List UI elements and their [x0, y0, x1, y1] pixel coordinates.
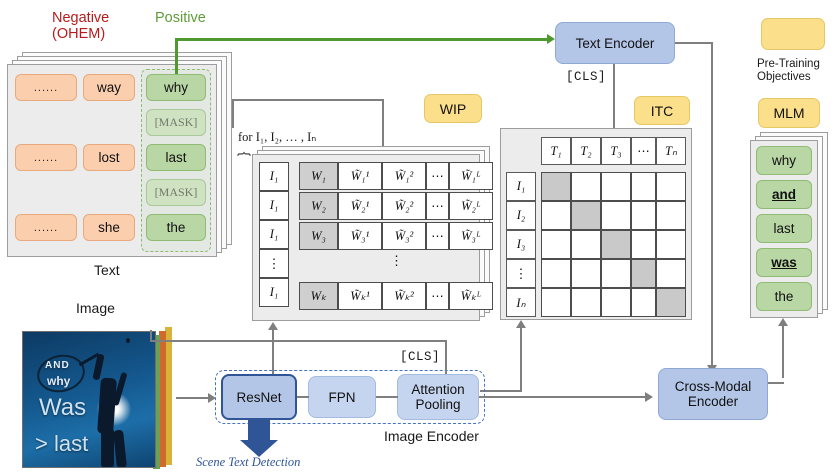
fpn-label: FPN: [329, 390, 356, 405]
itc-cell-r1c3: [601, 172, 631, 201]
wip-left-cell-3: I₁: [259, 220, 289, 249]
positive-label: Positive: [155, 10, 206, 26]
itc-cell-r1c5: [656, 172, 686, 201]
positive-word-chip-3[interactable]: last: [146, 144, 206, 171]
wip-left-cell-5: I₁: [259, 278, 289, 307]
wip-cell-r2c3: W̃₂²: [382, 192, 426, 220]
itc-col-header-4: ⋯: [631, 137, 656, 165]
itc-cell-r5c2: [571, 288, 601, 317]
photo-stack-edge-1: [165, 327, 172, 465]
wip-cell-rKc3: W̃ₖ²: [382, 282, 426, 310]
text-encoder-right-line: [675, 42, 713, 44]
wip-cell-r2c1: W₂: [299, 192, 338, 220]
pretraining-objectives-caption: Pre-Training Objectives: [757, 58, 835, 84]
mlm-token-text-2: and: [772, 187, 796, 202]
positive-word-text-1: why: [164, 80, 188, 95]
wip-cell-r1c2: W̃₁¹: [338, 162, 382, 190]
fpn-box[interactable]: FPN: [308, 376, 376, 418]
itc-cell-r3c2: [571, 230, 601, 259]
mlm-token-text-5: the: [775, 289, 794, 304]
fpn-to-attention-line: [376, 396, 398, 398]
mlm-token-chip-4[interactable]: was: [756, 248, 812, 277]
image-to-wip-arrow: [268, 322, 278, 330]
wip-cell-r1c3: W̃₁²: [382, 162, 426, 190]
wip-left-cell-4: ⋮: [259, 249, 289, 278]
green-connector-vertical: [175, 38, 178, 74]
itc-row-header-5: Iₙ: [506, 288, 536, 317]
attention-cls-vert: [445, 340, 447, 374]
itc-row-header-2: I₂: [506, 201, 536, 230]
negative-dots-chip-3[interactable]: ......: [15, 144, 77, 171]
photo-stack-edge-2: [159, 331, 166, 467]
wip-cell-rKc1: Wₖ: [299, 282, 338, 310]
image-overlay-and: AND: [45, 360, 70, 371]
text-encoder-box[interactable]: Text Encoder: [555, 22, 675, 64]
wip-cell-rKc2: W̃ₖ¹: [338, 282, 382, 310]
text-encoder-to-itc-line: [613, 64, 615, 132]
wip-cell-rKc4: ⋯: [426, 282, 449, 310]
mlm-token-chip-3[interactable]: last: [756, 214, 812, 243]
attention-to-cross-modal-arrow: [645, 392, 653, 402]
cross-modal-line2: Encoder: [675, 394, 752, 409]
negative-dots-text-5: ......: [34, 222, 58, 234]
wip-cell-r3c5: W̃₃ᴸ: [449, 222, 493, 250]
itc-cell-r2c5: [656, 201, 686, 230]
itc-cell-r4c4: [631, 259, 656, 288]
itc-cell-r3c4: [631, 230, 656, 259]
itc-cell-r5c3: [601, 288, 631, 317]
negative-word-chip-3[interactable]: lost: [83, 144, 135, 171]
pretraining-line2: Objectives: [757, 71, 835, 84]
positive-mask-chip-2[interactable]: [MASK]: [146, 109, 206, 136]
wip-row-ellipsis: ⋮: [390, 253, 403, 269]
negative-word-text-3: lost: [98, 150, 119, 165]
attention-pooling-line2: Pooling: [411, 397, 464, 412]
wip-cell-r3c3: W̃₃²: [382, 222, 426, 250]
image-overlay-why: why: [47, 374, 70, 388]
image-ball: [126, 338, 130, 343]
wip-cell-r1c5: W̃₁ᴸ: [449, 162, 493, 190]
itc-cell-r2c2: [571, 201, 601, 230]
mlm-badge-label: MLM: [773, 105, 804, 121]
itc-cell-r5c4: [631, 288, 656, 317]
negative-word-chip-5[interactable]: she: [83, 214, 135, 241]
itc-cell-r2c1: [541, 201, 571, 230]
itc-row-header-3: I₃: [506, 230, 536, 259]
itc-cell-r1c4: [631, 172, 656, 201]
mlm-token-text-3: last: [773, 221, 794, 236]
negative-dots-chip-1[interactable]: ......: [15, 74, 77, 101]
attention-to-cross-modal-line: [479, 396, 647, 398]
itc-row-header-4: ⋮: [506, 259, 536, 288]
text-encoder-down-line: [711, 42, 713, 367]
text-encoder-label: Text Encoder: [576, 36, 655, 51]
mlm-token-text-4: was: [771, 255, 797, 270]
positive-mask-chip-4[interactable]: [MASK]: [146, 179, 206, 206]
wip-cell-r2c2: W̃₂¹: [338, 192, 382, 220]
sample-image: AND why Was > last: [22, 331, 156, 468]
scene-text-arrow-shaft: [248, 420, 270, 440]
wip-cell-r3c2: W̃₃¹: [338, 222, 382, 250]
wip-badge: WIP: [424, 94, 482, 123]
itc-cell-r1c2: [571, 172, 601, 201]
positive-word-text-5: the: [167, 220, 186, 235]
wip-badge-label: WIP: [440, 101, 466, 117]
itc-cell-r3c3: [601, 230, 631, 259]
wip-cell-r1c4: ⋯: [426, 162, 449, 190]
image-overlay-was: Was: [39, 394, 86, 422]
image-to-itc-line: [520, 328, 522, 392]
wip-cell-r2c5: W̃₂ᴸ: [449, 192, 493, 220]
attention-pooling-box[interactable]: Attention Pooling: [397, 374, 479, 420]
cls-branch-left-vert: [150, 330, 152, 342]
text-caption: Text: [94, 262, 120, 278]
green-connector-arrowhead: [547, 34, 555, 44]
negative-word-text-1: way: [97, 80, 121, 95]
negative-word-text-5: she: [98, 220, 120, 235]
text-to-wip-vert-right: [382, 99, 384, 149]
cross-modal-to-mlm-arrow: [778, 318, 788, 326]
negative-dots-chip-5[interactable]: ......: [15, 214, 77, 241]
resnet-box[interactable]: ResNet: [221, 374, 297, 420]
itc-badge: ITC: [634, 96, 690, 125]
itc-row-header-1: I₁: [506, 172, 536, 201]
cls-label-bottom: [CLS]: [400, 350, 440, 364]
scene-text-detection-label: Scene Text Detection: [196, 455, 300, 470]
cross-modal-line1: Cross-Modal: [675, 379, 752, 394]
wip-left-cell-1: I₁: [259, 162, 289, 191]
image-to-encoder-line: [176, 397, 210, 399]
positive-word-chip-1[interactable]: why: [146, 74, 206, 101]
image-to-itc-arrow: [516, 320, 526, 328]
cross-modal-encoder-box[interactable]: Cross-Modal Encoder: [658, 368, 768, 420]
wip-cell-r3c4: ⋯: [426, 222, 449, 250]
attention-pooling-line1: Attention: [411, 382, 464, 397]
wip-left-cell-2: I₁: [259, 191, 289, 220]
itc-cell-r5c5: [656, 288, 686, 317]
itc-col-header-5: Tₙ: [656, 137, 686, 165]
positive-word-text-2: [MASK]: [155, 115, 198, 130]
negative-dots-text-3: ......: [34, 152, 58, 164]
itc-cell-r5c1: [541, 288, 571, 317]
image-legs: [101, 428, 114, 468]
mlm-token-chip-2[interactable]: and: [756, 180, 812, 209]
wip-cell-r3c1: W₃: [299, 222, 338, 250]
wip-cell-rKc5: W̃ₖᴸ: [449, 282, 493, 310]
itc-cell-r3c5: [656, 230, 686, 259]
itc-cell-r3c1: [541, 230, 571, 259]
itc-badge-label: ITC: [651, 103, 674, 119]
negative-label-line1: Negative: [52, 10, 109, 26]
cross-modal-to-mlm-line: [782, 326, 784, 378]
itc-col-header-2: T₂: [571, 137, 601, 165]
cls-branch-horiz: [150, 340, 447, 342]
wip-cell-r1c1: W₁: [299, 162, 338, 190]
brace-icon: {: [237, 152, 253, 157]
negative-label-line2: (OHEM): [52, 26, 109, 42]
attention-pooling-label: Attention Pooling: [411, 382, 464, 412]
itc-cell-r2c3: [601, 201, 631, 230]
positive-word-text-4: [MASK]: [155, 185, 198, 200]
itc-col-header-1: T₁: [541, 137, 571, 165]
negative-word-chip-1[interactable]: way: [83, 74, 135, 101]
positive-word-chip-5[interactable]: the: [146, 214, 206, 241]
negative-dots-text-1: ......: [34, 82, 58, 94]
image-to-itc-horiz: [480, 390, 522, 392]
itc-cell-r4c1: [541, 259, 571, 288]
resnet-label: ResNet: [236, 390, 281, 405]
mlm-token-text-1: why: [772, 153, 796, 168]
image-caption: Image: [76, 300, 115, 316]
positive-word-text-3: last: [165, 150, 186, 165]
text-to-wip-vert-left: [232, 99, 234, 128]
mlm-token-chip-1[interactable]: why: [756, 146, 812, 175]
itc-col-header-3: T₃: [601, 137, 631, 165]
text-to-wip-line: [232, 99, 384, 101]
itc-cell-r1c1: [541, 172, 571, 201]
cls-label-top: [CLS]: [566, 70, 606, 84]
mlm-token-chip-5[interactable]: the: [756, 282, 812, 311]
negative-ohem-label: Negative (OHEM): [52, 10, 109, 42]
cross-modal-right-line: [768, 382, 784, 384]
image-overlay-last: > last: [35, 431, 88, 457]
cross-modal-encoder-label: Cross-Modal Encoder: [675, 379, 752, 409]
itc-cell-r4c3: [601, 259, 631, 288]
image-encoder-caption: Image Encoder: [384, 428, 479, 444]
mlm-badge: MLM: [758, 98, 820, 128]
green-connector-horizontal: [175, 38, 549, 41]
for-loop-label: for I₁, I₂, … , Iₙ: [238, 129, 316, 145]
itc-cell-r4c2: [571, 259, 601, 288]
wip-cell-r2c4: ⋯: [426, 192, 449, 220]
pretraining-line1: Pre-Training: [757, 58, 835, 71]
objectives-badge: [761, 18, 825, 50]
itc-cell-r4c5: [656, 259, 686, 288]
itc-cell-r2c4: [631, 201, 656, 230]
resnet-to-fpn-line: [297, 396, 309, 398]
